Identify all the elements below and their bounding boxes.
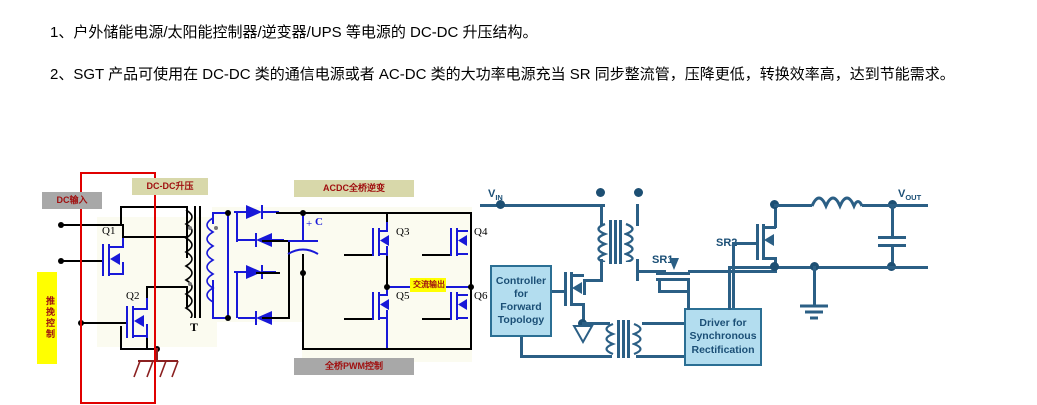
controller-line-2: for Forward — [492, 288, 550, 314]
sr1-to-driver — [687, 290, 690, 310]
wire-ctrl-down — [520, 337, 523, 357]
main-transformer-primary-icon — [594, 222, 608, 262]
q3-body-arrow-icon — [378, 233, 396, 251]
sr1-lower-h — [658, 290, 690, 293]
transformer-core-bar-2 — [199, 206, 201, 318]
drive-transformer-secondary-icon — [632, 322, 646, 356]
wire-sec-down-r — [636, 204, 639, 226]
wire-drv-bot-r — [636, 355, 686, 358]
q4-gate-bar — [450, 228, 452, 256]
wire-sr2-gate-down — [732, 242, 735, 308]
sr1-body-arrow-icon — [666, 256, 682, 274]
driver-box[interactable]: Driver for Synchronous Rectification — [684, 308, 762, 366]
sr1-channel-bar — [656, 278, 690, 281]
output-ground-symbol-icon — [798, 304, 832, 324]
dot-secondary — [214, 226, 218, 230]
dot-pri-top — [596, 188, 605, 197]
tag-dcdc-boost: DC-DC升压 — [132, 178, 208, 195]
wire-to-inductor — [774, 204, 812, 207]
label-capacitor: C — [315, 216, 323, 228]
drive-transformer-primary-icon — [602, 322, 616, 356]
driver-line-3: Rectification — [689, 344, 756, 357]
bridge-mid-left-v — [236, 212, 238, 242]
q6-gate-wire — [422, 318, 450, 320]
q5-gate-bar — [372, 292, 374, 320]
q5-body-arrow-icon — [378, 297, 396, 315]
tag-dc-input: DC输入 — [42, 192, 102, 209]
controller-line-1: Controller — [492, 275, 550, 288]
cap-out-plate-top — [878, 236, 906, 239]
left-schematic: Q1 Q2 — [22, 162, 462, 405]
label-q3: Q3 — [396, 226, 409, 238]
q4-drain-stub — [456, 230, 468, 232]
document-text-block: 1、户外储能电源/太阳能控制器/逆变器/UPS 等电源的 DC-DC 升压结构。… — [0, 0, 1037, 100]
sw-drain-stub — [570, 274, 584, 277]
controller-box-text: Controller for Forward Topology — [492, 275, 550, 328]
paragraph-2: 2、SGT 产品可使用在 DC-DC 类的通信电源或者 AC-DC 类的大功率电… — [20, 58, 1017, 92]
tag-push-pull-control: 推挽控制 — [37, 272, 57, 364]
figures-row: Q1 Q2 — [0, 152, 1037, 405]
node-cap-bot — [300, 270, 306, 276]
q3-gate-bar — [372, 228, 374, 256]
bridge-mid-left-v2 — [236, 272, 238, 318]
paragraph-1: 1、户外储能电源/太阳能控制器/逆变器/UPS 等电源的 DC-DC 升压结构。 — [20, 16, 1017, 50]
q6-drain-stub — [456, 294, 468, 296]
sw-body-arrow-icon — [570, 280, 588, 298]
dot-primary — [188, 226, 192, 230]
wire-sec-to-sr1 — [636, 270, 666, 273]
q6-gate-bar — [450, 292, 452, 320]
q4-gate-wire — [422, 254, 450, 256]
q3-gate-wire — [344, 254, 372, 256]
tag-full-bridge-pwm: 全桥PWM控制 — [294, 358, 414, 375]
transformer-core-bar-1 — [194, 206, 196, 318]
drv-core-2 — [622, 320, 625, 358]
label-cap-polarity: + — [306, 218, 312, 230]
node-q1-gate — [58, 258, 64, 264]
wire-return-left-up — [728, 266, 731, 310]
controller-box[interactable]: Controller for Forward Topology — [490, 265, 552, 337]
label-q5: Q5 — [396, 290, 409, 302]
main-core-2 — [614, 220, 617, 264]
q5-source-down — [386, 310, 388, 348]
q6-source-stub — [456, 317, 468, 319]
node-bridge-tl — [225, 210, 231, 216]
main-core-3 — [619, 220, 622, 264]
primary-ground-triangle-icon — [572, 324, 596, 348]
dot-sec-top — [634, 188, 643, 197]
cap-plate-top — [288, 240, 318, 242]
cap-bot-lead — [302, 254, 304, 348]
node-bridge-bl — [225, 315, 231, 321]
wire-vout-rail — [888, 204, 928, 207]
wire-drv-top-r — [642, 322, 686, 325]
right-schematic: VIN — [470, 152, 1030, 405]
drv-core-1 — [617, 320, 620, 358]
drv-core-3 — [627, 320, 630, 358]
driver-box-text: Driver for Synchronous Rectification — [689, 317, 756, 356]
wire-return-rail — [728, 266, 928, 269]
tag-ac-output: 交流输出 — [410, 278, 446, 292]
sr2-body-arrow-icon — [762, 232, 780, 250]
driver-line-1: Driver for — [689, 317, 756, 330]
label-transformer: T — [190, 320, 198, 335]
label-vout: VOUT — [898, 188, 921, 202]
controller-line-3: Topology — [492, 314, 550, 327]
cap-top-lead — [302, 212, 304, 240]
wire-sec-bot — [212, 280, 214, 318]
cap-out-top-lead — [891, 204, 894, 236]
inv-bot-rail — [302, 348, 472, 350]
main-transformer-secondary-icon — [624, 222, 638, 262]
wire-out-gnd-down — [813, 266, 816, 306]
wire-sr2-gate — [732, 242, 758, 245]
wire-pri-low — [600, 259, 603, 281]
bridge-out-h-1 — [262, 240, 290, 242]
node-vin — [496, 200, 505, 209]
label-vout-sub: OUT — [905, 193, 921, 202]
driver-line-2: Synchronous — [689, 330, 756, 343]
q3-drain-up — [386, 222, 388, 232]
bridge-left-rail — [227, 212, 229, 318]
main-core-1 — [609, 220, 612, 264]
bridge-out-h-2 — [262, 317, 290, 319]
wire-drv-bot-l — [520, 355, 612, 358]
inductor-icon — [810, 192, 870, 216]
node-dc-plus — [58, 222, 64, 228]
q4-source-stub — [456, 253, 468, 255]
node-sr2-source — [770, 262, 779, 271]
tag-acdc-full-bridge: ACDC全桥逆变 — [294, 180, 414, 197]
dot-primary-2 — [188, 282, 192, 286]
bridge-bot-out — [256, 272, 280, 274]
wire-sr1-top-rail — [688, 270, 776, 273]
node-ac-left — [384, 284, 390, 290]
sw-gate-bar — [564, 272, 567, 306]
q5-gate-wire — [344, 318, 372, 320]
